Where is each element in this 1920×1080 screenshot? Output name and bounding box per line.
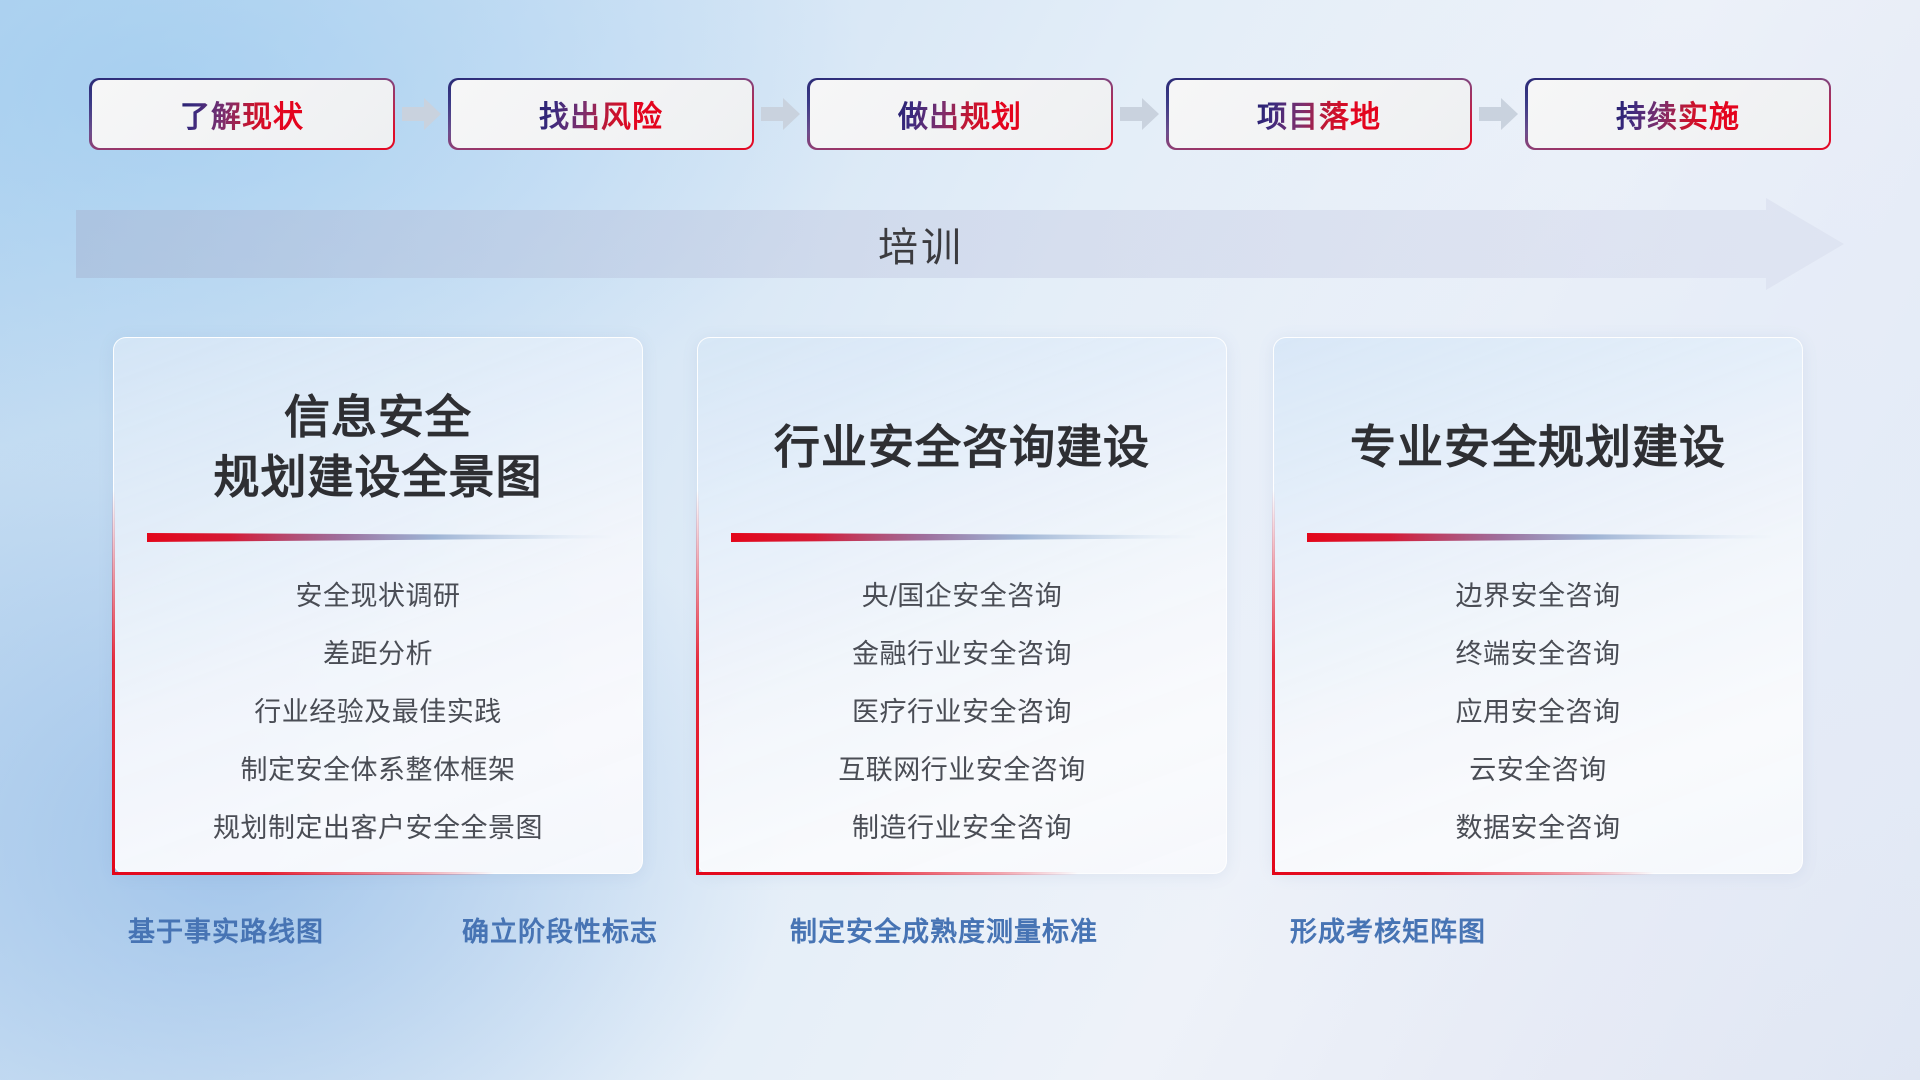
service-card-1[interactable]: 信息安全规划建设全景图安全现状调研差距分析行业经验及最佳实践制定安全体系整体框架… [113, 337, 643, 874]
card-list-item[interactable]: 差距分析 [140, 632, 616, 671]
card-title-line: 专业安全规划建设 [1300, 418, 1776, 478]
arrow-right-icon [761, 97, 801, 131]
step-label-3: 做出规划 [898, 92, 1022, 136]
card-title-line: 规划建设全景图 [140, 448, 616, 508]
step-box-4[interactable]: 项目落地 [1167, 78, 1472, 150]
card-list-item[interactable]: 边界安全咨询 [1300, 574, 1776, 613]
outcome-label-row: 基于事实路线图确立阶段性标志制定安全成熟度测量标准形成考核矩阵图 [0, 910, 1920, 970]
card-title-2: 行业安全咨询建设 [724, 388, 1200, 508]
card-item-list-3: 边界安全咨询终端安全咨询应用安全咨询云安全咨询数据安全咨询 [1300, 574, 1776, 845]
step-box-1[interactable]: 了解现状 [90, 78, 395, 150]
card-title-line: 行业安全咨询建设 [724, 418, 1200, 478]
step-label-2: 找出风险 [539, 92, 663, 136]
card-list-item[interactable]: 数据安全咨询 [1300, 806, 1776, 845]
outcome-label-3: 制定安全成熟度测量标准 [790, 910, 1098, 954]
card-list-item[interactable]: 互联网行业安全咨询 [724, 748, 1200, 787]
step-arrow-3 [1113, 76, 1167, 152]
card-divider-1 [145, 530, 611, 544]
banner-title: 培训 [76, 198, 1766, 290]
step-label-5: 持续实施 [1616, 92, 1740, 136]
card-list-item[interactable]: 制定安全体系整体框架 [140, 748, 616, 787]
step-arrow-4 [1472, 76, 1526, 152]
card-list-item[interactable]: 金融行业安全咨询 [724, 632, 1200, 671]
step-box-2[interactable]: 找出风险 [449, 78, 754, 150]
card-list-item[interactable]: 安全现状调研 [140, 574, 616, 613]
card-list-item[interactable]: 应用安全咨询 [1300, 690, 1776, 729]
arrow-right-icon [402, 97, 442, 131]
card-list-item[interactable]: 制造行业安全咨询 [724, 806, 1200, 845]
card-divider-2 [729, 530, 1195, 544]
training-banner: 培训 [76, 198, 1844, 290]
card-title-1: 信息安全规划建设全景图 [140, 388, 616, 508]
card-list-item[interactable]: 规划制定出客户安全全景图 [140, 806, 616, 845]
arrow-right-icon [1479, 97, 1519, 131]
outcome-label-1: 基于事实路线图 [128, 910, 324, 954]
step-label-4: 项目落地 [1257, 92, 1381, 136]
outcome-label-2: 确立阶段性标志 [462, 910, 658, 954]
step-arrow-1 [395, 76, 449, 152]
card-title-3: 专业安全规划建设 [1300, 388, 1776, 508]
card-list-item[interactable]: 云安全咨询 [1300, 748, 1776, 787]
card-list-item[interactable]: 终端安全咨询 [1300, 632, 1776, 671]
card-item-list-2: 央/国企安全咨询金融行业安全咨询医疗行业安全咨询互联网行业安全咨询制造行业安全咨… [724, 574, 1200, 845]
service-cards: 信息安全规划建设全景图安全现状调研差距分析行业经验及最佳实践制定安全体系整体框架… [0, 337, 1920, 877]
process-step-row: 了解现状找出风险做出规划项目落地持续实施 [0, 76, 1920, 152]
arrow-right-icon [1120, 97, 1160, 131]
service-card-2[interactable]: 行业安全咨询建设央/国企安全咨询金融行业安全咨询医疗行业安全咨询互联网行业安全咨… [697, 337, 1227, 874]
outcome-label-4: 形成考核矩阵图 [1290, 910, 1486, 954]
step-box-3[interactable]: 做出规划 [808, 78, 1113, 150]
card-list-item[interactable]: 医疗行业安全咨询 [724, 690, 1200, 729]
card-title-line: 信息安全 [140, 388, 616, 448]
card-list-item[interactable]: 央/国企安全咨询 [724, 574, 1200, 613]
step-box-5[interactable]: 持续实施 [1526, 78, 1831, 150]
card-list-item[interactable]: 行业经验及最佳实践 [140, 690, 616, 729]
card-item-list-1: 安全现状调研差距分析行业经验及最佳实践制定安全体系整体框架规划制定出客户安全全景… [140, 574, 616, 845]
step-arrow-2 [754, 76, 808, 152]
card-divider-3 [1305, 530, 1771, 544]
step-label-1: 了解现状 [180, 92, 304, 136]
service-card-3[interactable]: 专业安全规划建设边界安全咨询终端安全咨询应用安全咨询云安全咨询数据安全咨询 [1273, 337, 1803, 874]
